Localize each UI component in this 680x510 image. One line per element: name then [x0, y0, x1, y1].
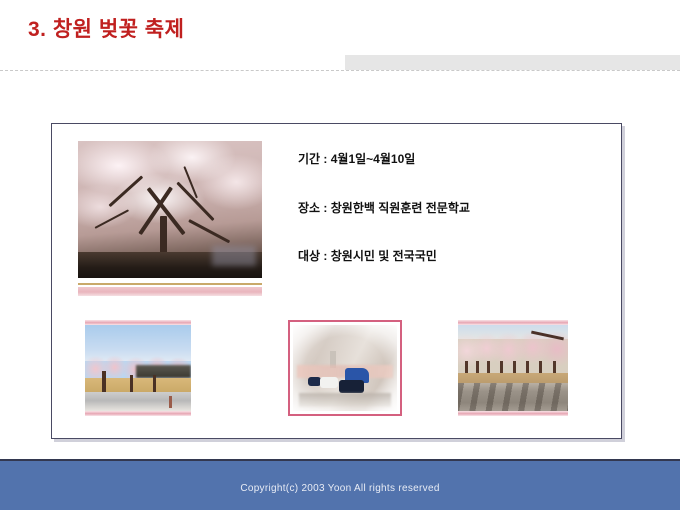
thumbnail-row	[52, 320, 623, 420]
hillside	[136, 365, 191, 379]
festival-info-list: 기간 : 4월1일~4월10일 장소 : 창원한백 직원훈련 전문학교 대상 :…	[298, 152, 598, 265]
header-band-right-grey	[345, 55, 680, 70]
copyright-text: Copyright(c) 2003 Yoon All rights reserv…	[0, 483, 680, 494]
info-line-audience: 대상 : 창원시민 및 전국국민	[298, 249, 598, 265]
thumb-photo-cherry-road	[85, 325, 191, 411]
page-title: 3. 창원 벚꽃 축제	[28, 13, 184, 43]
path-shadows	[458, 383, 568, 411]
car-dark	[339, 380, 364, 393]
thumb-band-bottom	[458, 411, 568, 416]
info-line-period: 기간 : 4월1일~4월10일	[298, 152, 598, 168]
content-panel: 기간 : 4월1일~4월10일 장소 : 창원한백 직원훈련 전문학교 대상 :…	[51, 123, 622, 439]
hero-photo-cherry-tree	[78, 141, 262, 278]
road	[85, 392, 191, 411]
thumbnail-cherry-path	[458, 320, 568, 416]
header-band-left-white	[0, 55, 345, 70]
footer-bar: Copyright(c) 2003 Yoon All rights reserv…	[0, 459, 680, 510]
hero-background-light	[212, 246, 256, 266]
thumbnail-cherry-road	[85, 320, 191, 416]
car-white	[320, 377, 338, 388]
thumb-photo-cherry-path	[458, 325, 568, 411]
car-dark	[308, 377, 322, 386]
thumb-photo-parking	[293, 325, 397, 411]
hero-pink-band	[78, 287, 262, 296]
thumb-band-bottom	[85, 411, 191, 416]
hero-image-block	[78, 141, 262, 296]
header-band	[0, 55, 680, 70]
thumbnail-parking-festival	[288, 320, 402, 416]
hero-gold-rule	[78, 283, 262, 285]
header-dotted-rule	[0, 70, 680, 71]
roadside-post	[169, 396, 172, 407]
info-line-venue: 장소 : 창원한백 직원훈련 전문학교	[298, 201, 598, 217]
parking-surface	[299, 393, 391, 407]
